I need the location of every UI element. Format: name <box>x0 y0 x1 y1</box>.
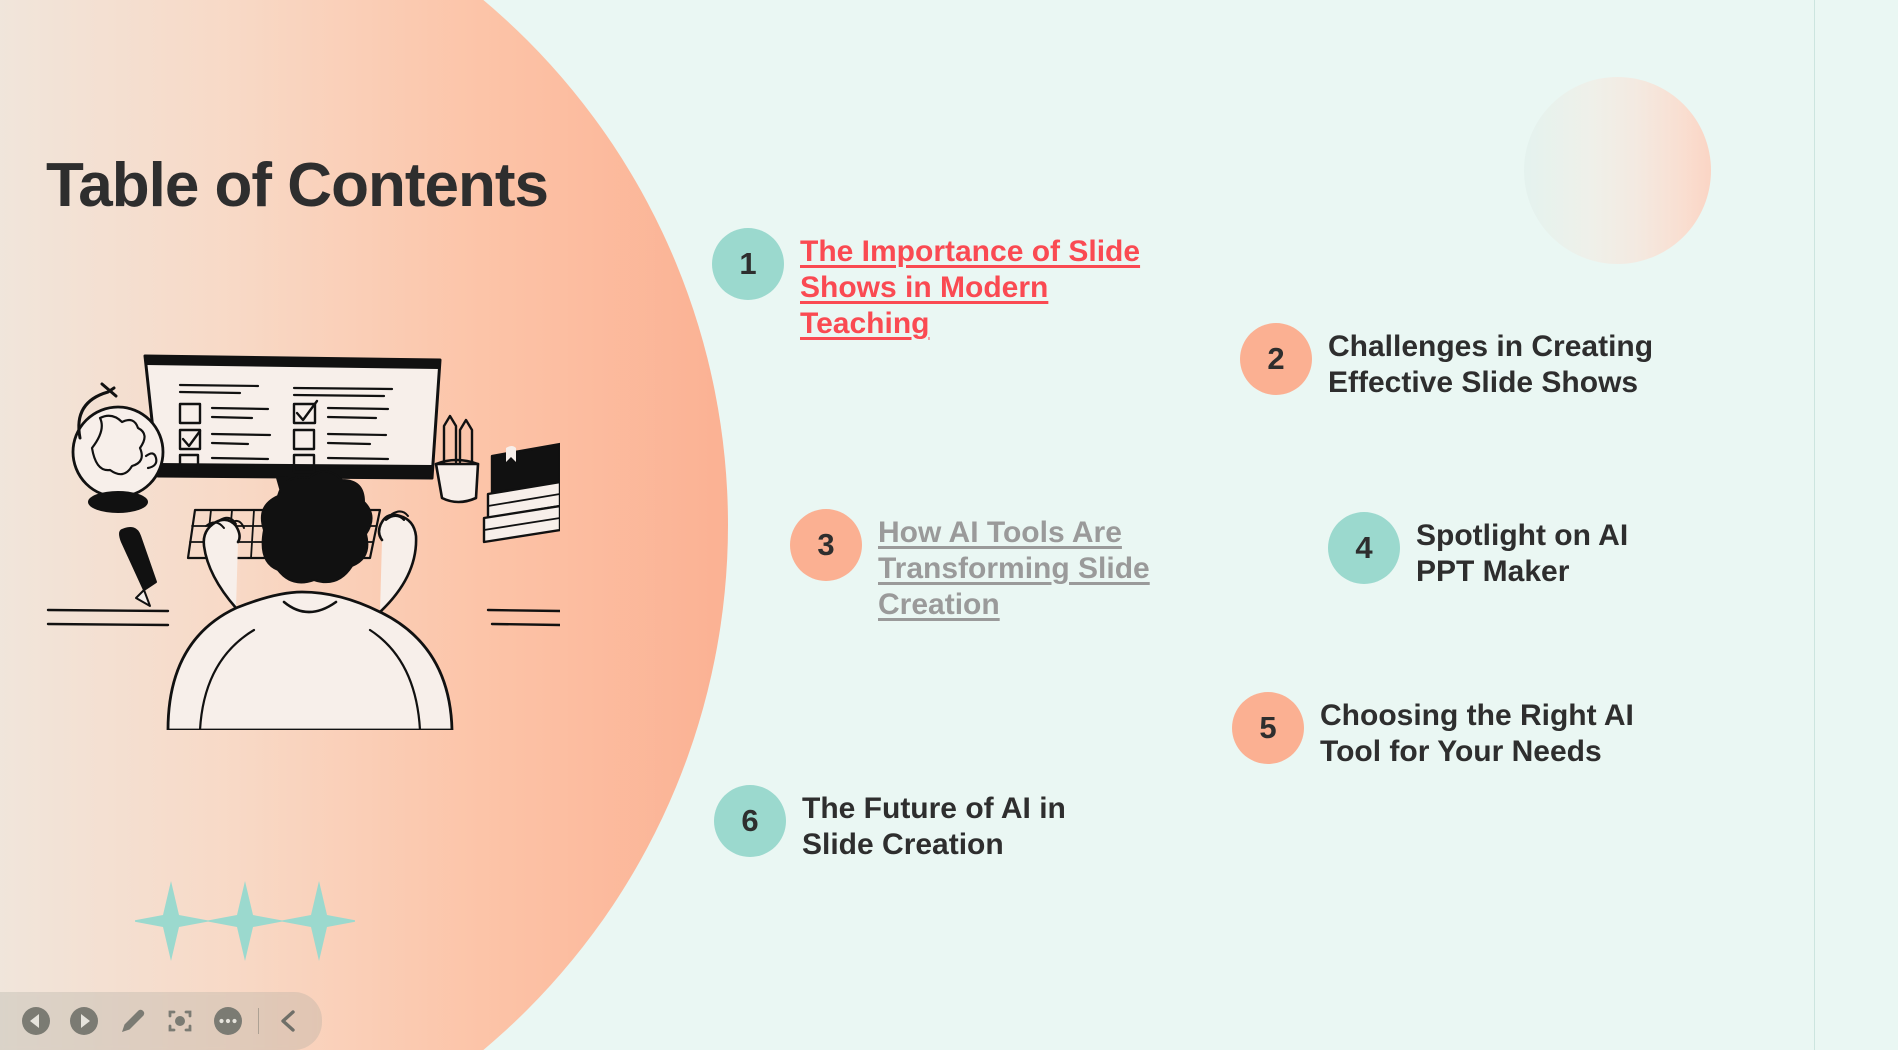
page-title: Table of Contents <box>46 150 548 221</box>
previous-slide-button[interactable] <box>12 997 60 1045</box>
toc-badge-5: 5 <box>1232 692 1304 764</box>
collapse-toolbar-button[interactable] <box>265 997 313 1045</box>
toolbar-separator <box>258 1008 259 1034</box>
presenter-toolbar[interactable] <box>0 992 322 1050</box>
toc-item-3[interactable]: 3 How AI Tools Are Transforming Slide Cr… <box>790 509 1230 623</box>
toc-label-3[interactable]: How AI Tools Are Transforming Slide Crea… <box>862 509 1230 623</box>
presentation-slide: Table of Contents <box>0 0 1898 1050</box>
toc-badge-4: 4 <box>1328 512 1400 584</box>
toc-label-5[interactable]: Choosing the Right AI Tool for Your Need… <box>1304 692 1682 770</box>
more-options-button[interactable] <box>204 997 252 1045</box>
toc-label-1[interactable]: The Importance of Slide Shows in Modern … <box>784 228 1142 342</box>
desk-illustration <box>40 330 560 730</box>
toc-label-4[interactable]: Spotlight on AI PPT Maker <box>1400 512 1658 590</box>
toc-item-2[interactable]: 2 Challenges in Creating Effective Slide… <box>1240 323 1690 401</box>
laser-pointer-icon <box>165 1006 195 1036</box>
collapse-chevron-icon <box>276 1008 302 1034</box>
toc-label-6[interactable]: The Future of AI in Slide Creation <box>786 785 1114 863</box>
toc-badge-3: 3 <box>790 509 862 581</box>
laser-pointer-button[interactable] <box>156 997 204 1045</box>
right-edge-guide-line <box>1814 0 1815 1050</box>
sparkle-decorations <box>135 875 355 965</box>
toc-badge-6: 6 <box>714 785 786 857</box>
next-slide-button[interactable] <box>60 997 108 1045</box>
toc-item-4[interactable]: 4 Spotlight on AI PPT Maker <box>1328 512 1658 590</box>
toc-item-6[interactable]: 6 The Future of AI in Slide Creation <box>714 785 1114 863</box>
pen-icon <box>117 1006 147 1036</box>
next-slide-icon <box>69 1006 99 1036</box>
pen-button[interactable] <box>108 997 156 1045</box>
soft-gradient-circle <box>1524 77 1711 264</box>
toc-badge-2: 2 <box>1240 323 1312 395</box>
toc-item-5[interactable]: 5 Choosing the Right AI Tool for Your Ne… <box>1232 692 1682 770</box>
toc-badge-1: 1 <box>712 228 784 300</box>
toc-item-1[interactable]: 1 The Importance of Slide Shows in Moder… <box>712 228 1142 342</box>
toc-label-2[interactable]: Challenges in Creating Effective Slide S… <box>1312 323 1690 401</box>
more-options-icon <box>213 1006 243 1036</box>
previous-slide-icon <box>21 1006 51 1036</box>
